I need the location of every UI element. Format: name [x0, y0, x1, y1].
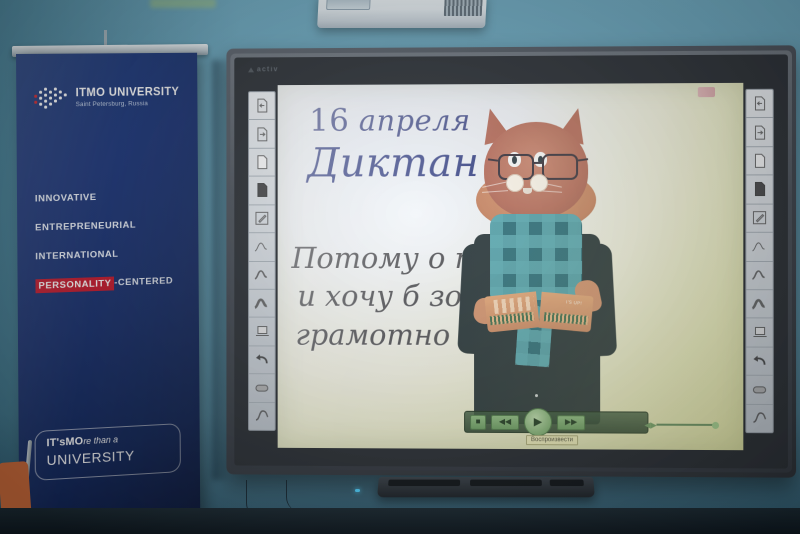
- scene-vignette: [0, 0, 800, 534]
- classroom-scene: ITMO UNIVERSITY Saint Petersburg, Russia…: [0, 0, 800, 534]
